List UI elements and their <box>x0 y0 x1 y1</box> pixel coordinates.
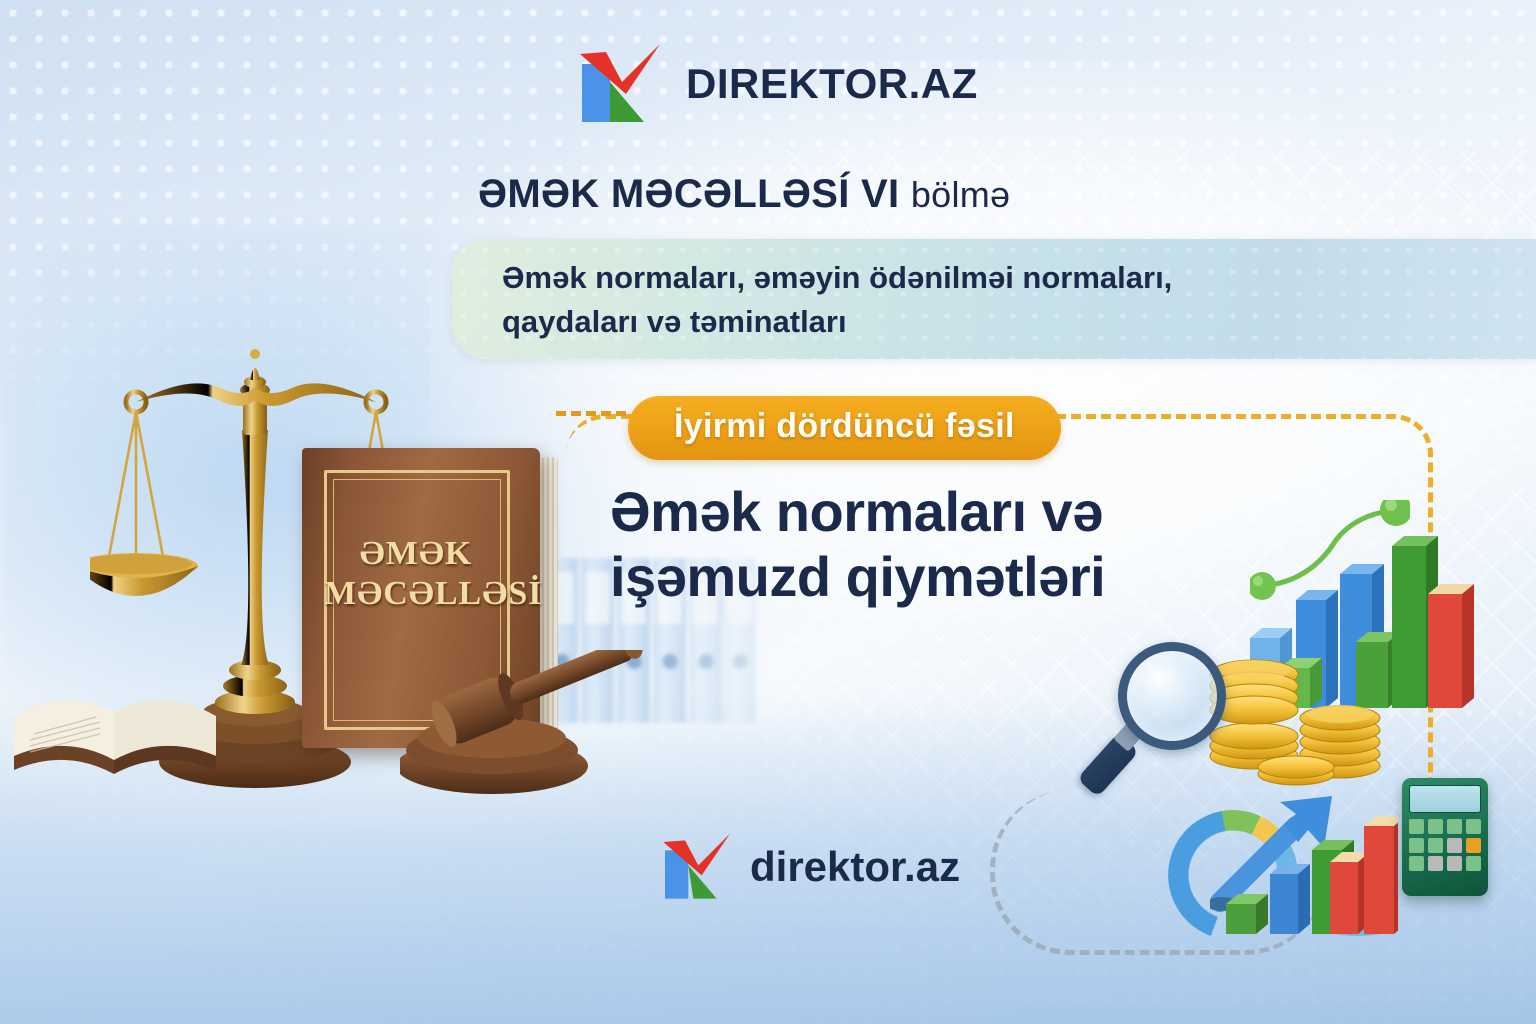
book-title: ƏMƏK MƏCƏLLƏSİ <box>324 534 508 614</box>
open-book-icon <box>8 660 223 780</box>
headline-line-2: işəmuzd qiymətləri <box>610 545 1250 610</box>
book-title-line-1: ƏMƏK <box>324 534 508 574</box>
chapter-headline: Əmək normaları və işəmuzd qiymətləri <box>610 480 1250 610</box>
dashed-trail-left <box>556 411 626 416</box>
calculator-display <box>1409 785 1481 813</box>
magnifying-glass-icon <box>1092 642 1242 792</box>
direktor-checkmark-logo-icon <box>576 42 672 126</box>
brand-name-top: DIREKTOR.AZ <box>686 63 978 105</box>
chapter-badge: İyirmi dördüncü fəsil <box>628 396 1061 460</box>
poster-canvas: DIREKTOR.AZ ƏMƏK MƏCƏLLƏSÍ VI bölmə Əmək… <box>0 0 1536 1024</box>
headline-line-1: Əmək normaları və <box>610 480 1250 545</box>
calculator-icon <box>1402 778 1488 896</box>
subtitle-banner: Əmək normaları, əməyin ödənilməi normala… <box>452 239 1536 359</box>
brand-logo-top[interactable]: DIREKTOR.AZ <box>576 42 978 126</box>
gavel-icon <box>400 650 680 800</box>
calculator-keypad <box>1409 819 1481 871</box>
direktor-checkmark-logo-icon-bottom <box>660 832 740 902</box>
kicker-light-text: bölmə <box>911 174 1011 215</box>
section-kicker: ƏMƏK MƏCƏLLƏSÍ VI bölmə <box>478 172 1010 217</box>
kicker-main-text: ƏMƏK MƏCƏLLƏSÍ VI <box>478 172 911 216</box>
brand-logo-bottom[interactable]: direktor.az <box>660 832 960 902</box>
subtitle-banner-text: Əmək normaları, əməyin ödənilməi normala… <box>452 239 1422 344</box>
subtitle-line-2: qaydaları və təminatları <box>502 300 1422 344</box>
subtitle-line-1: Əmək normaları, əməyin ödənilməi normala… <box>502 256 1422 300</box>
book-title-line-2: MƏCƏLLƏSİ <box>324 574 508 614</box>
brand-name-bottom: direktor.az <box>750 846 960 888</box>
bar-chart-lower-icon <box>1218 812 1398 942</box>
magnifier-lens <box>1118 642 1226 750</box>
